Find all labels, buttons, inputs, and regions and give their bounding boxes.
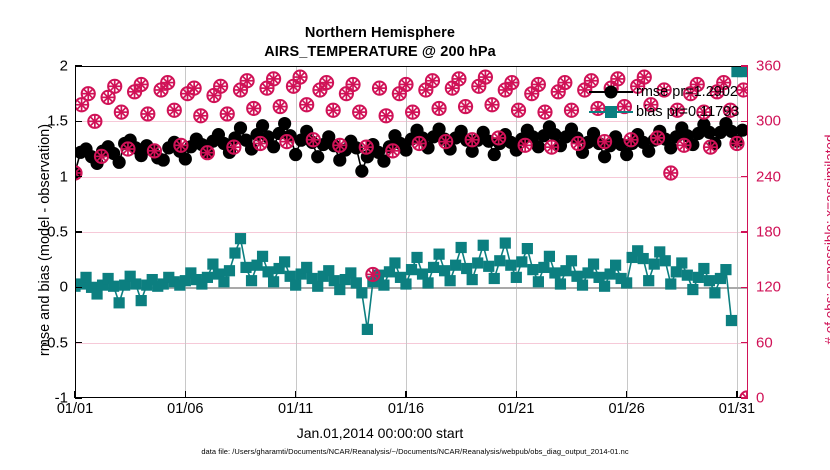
legend-label-rmse: rmse pr=1.2902 (636, 84, 738, 100)
chart-title-block: Northern Hemisphere AIRS_TEMPERATURE @ 2… (0, 24, 760, 62)
data-file-label: data file: /Users/gharamti/Documents/NCA… (0, 447, 830, 456)
y-tick-right (741, 231, 748, 233)
y-axis-title-left: rmse and bias (model - observation) (37, 75, 53, 405)
chart-canvas: Northern Hemisphere AIRS_TEMPERATURE @ 2… (0, 0, 830, 470)
x-axis-start-label: Jan.01,2014 00:00:00 start (0, 425, 760, 441)
y-tick-label-right: 180 (756, 224, 781, 241)
y-tick-label-right: 240 (756, 168, 781, 185)
y-tick-right (741, 176, 748, 178)
y-tick-label-left: 0 (60, 279, 68, 296)
y-tick-label-right: 0 (756, 390, 764, 407)
x-tick-label: 01/01 (57, 401, 93, 417)
x-tick (626, 391, 627, 398)
y-tick-label-left: 1 (60, 168, 68, 185)
legend-label-bias: bias pr=0.11793 (636, 104, 739, 120)
chart-title-region: Northern Hemisphere (0, 24, 760, 43)
legend-item-rmse: rmse pr=1.2902 (589, 82, 739, 102)
x-tick-label: 01/06 (167, 401, 203, 417)
legend-marker-rmse (589, 82, 633, 102)
chart-legend: rmse pr=1.2902 bias pr=0.11793 (589, 82, 739, 122)
y-tick-left (75, 231, 82, 232)
y-tick-label-right: 120 (756, 279, 781, 296)
y-tick-label-left: 2 (60, 58, 68, 75)
x-tick (516, 391, 517, 398)
y-tick-right (741, 65, 748, 67)
x-tick (736, 391, 737, 398)
y-tick-right (741, 121, 748, 123)
y-tick-label-right: 360 (756, 58, 781, 75)
y-tick-left (75, 397, 82, 398)
y-tick-left (75, 121, 82, 122)
x-tick (295, 391, 296, 398)
x-tick-label: 01/31 (719, 401, 755, 417)
x-tick (405, 391, 406, 398)
x-tick-label: 01/21 (498, 401, 534, 417)
y-tick-label-right: 60 (756, 334, 773, 351)
y-tick-right (741, 397, 748, 399)
y-tick-left (75, 342, 82, 343)
y-axis-title-right: # of obs: o=possible; x=assimilated (823, 75, 830, 405)
x-tick-label: 01/11 (278, 401, 313, 417)
chart-title-variable: AIRS_TEMPERATURE @ 200 hPa (0, 43, 760, 62)
legend-marker-bias (589, 102, 633, 122)
legend-item-bias: bias pr=0.11793 (589, 102, 739, 122)
y-tick-right (741, 342, 748, 344)
y-tick-right (741, 287, 748, 289)
y-tick-left (75, 287, 82, 288)
y-tick-label-right: 300 (756, 113, 781, 130)
x-tick-label: 01/16 (388, 401, 424, 417)
x-tick (74, 391, 75, 398)
y-tick-left (75, 176, 82, 177)
x-tick (185, 391, 186, 398)
x-tick-label: 01/26 (608, 401, 644, 417)
y-tick-left (75, 65, 82, 66)
